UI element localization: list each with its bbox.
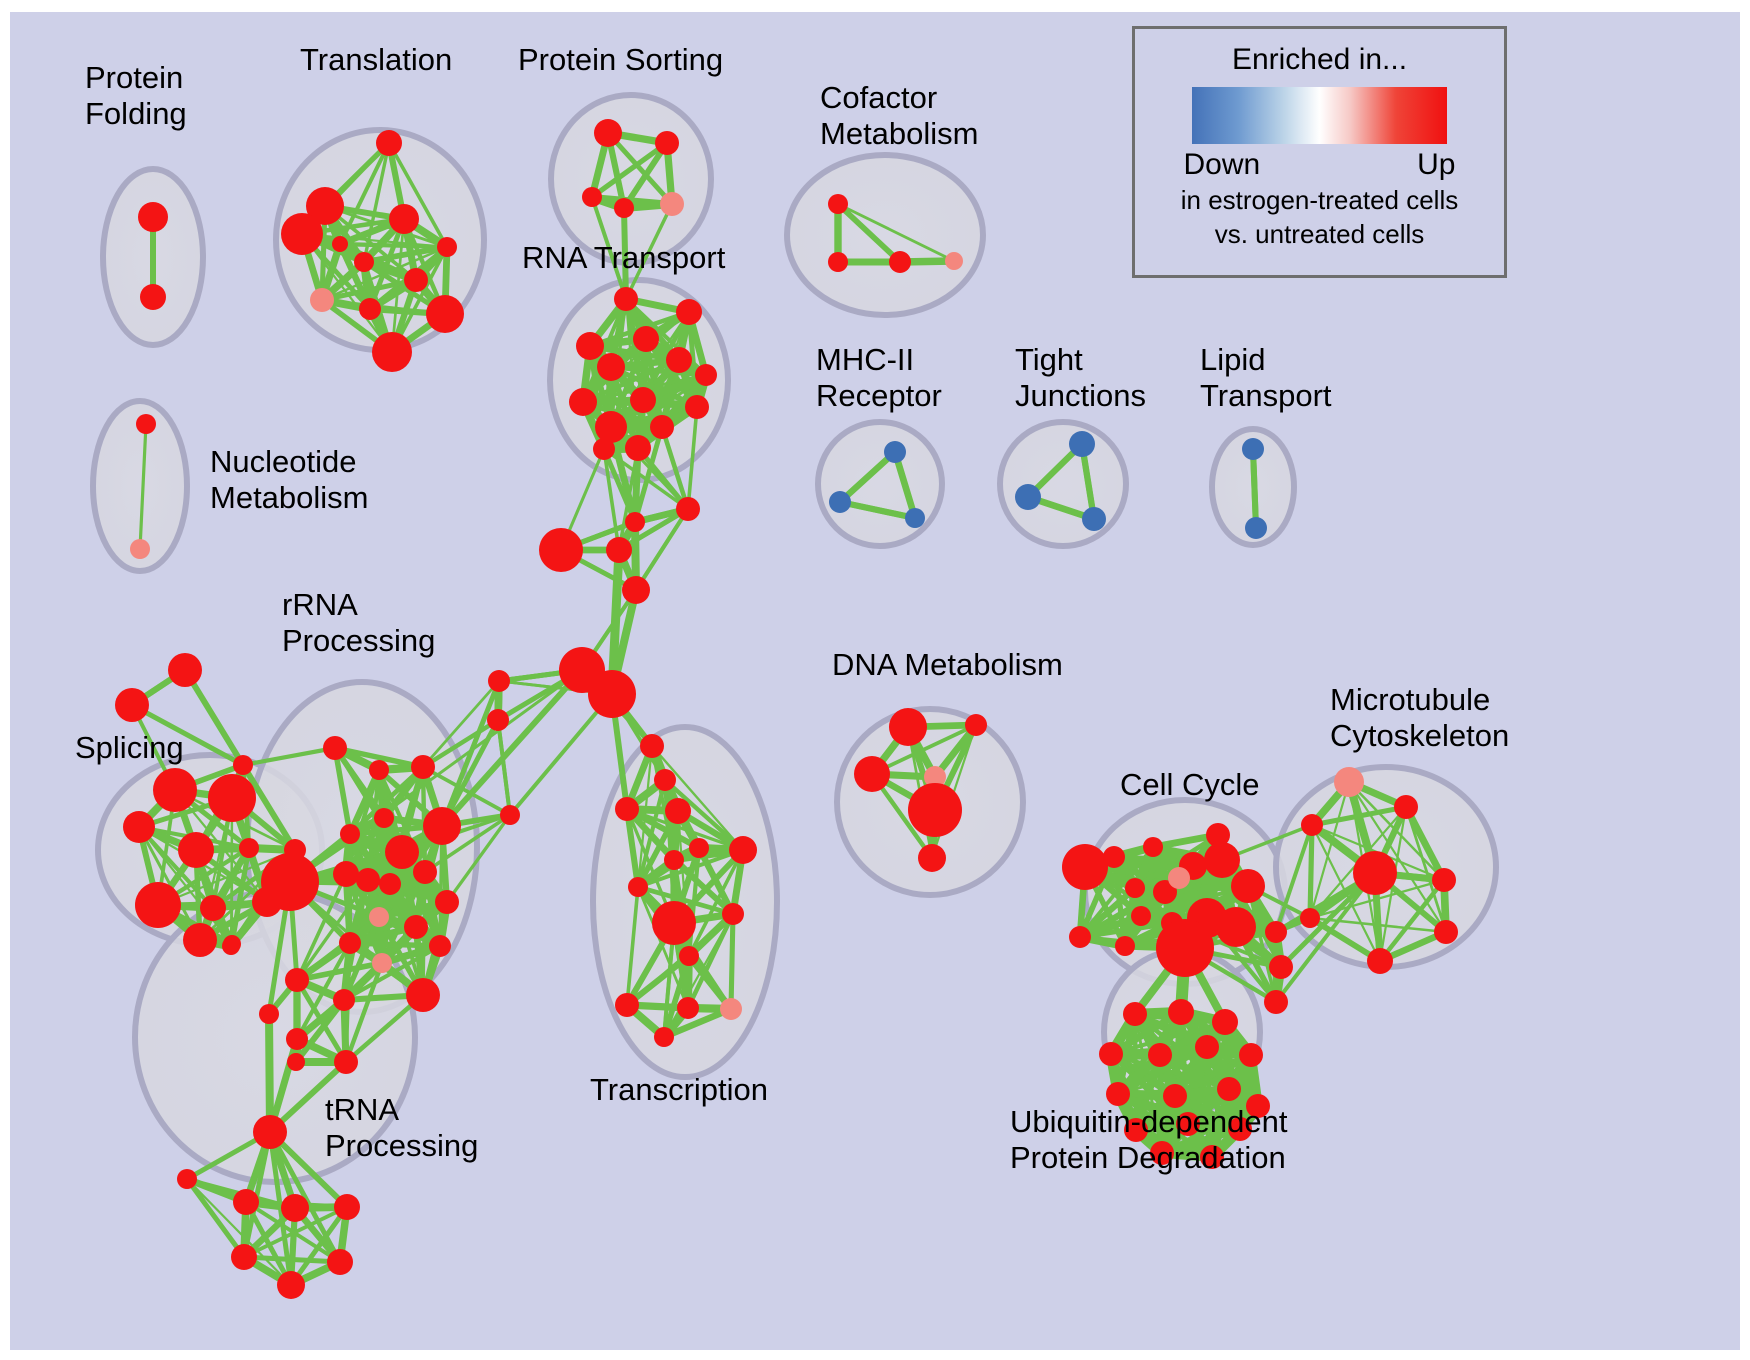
network-node[interactable]	[1106, 1082, 1130, 1106]
network-node[interactable]	[595, 411, 627, 443]
network-node[interactable]	[437, 237, 457, 257]
network-node[interactable]	[208, 774, 256, 822]
network-node[interactable]	[115, 688, 149, 722]
network-node[interactable]	[1156, 919, 1214, 977]
network-node[interactable]	[1168, 999, 1194, 1025]
legend-subtitle-line1: in estrogen-treated cells	[1181, 184, 1458, 216]
network-node[interactable]	[310, 288, 334, 312]
network-node[interactable]	[426, 295, 464, 333]
network-node[interactable]	[487, 709, 509, 731]
network-node[interactable]	[239, 838, 259, 858]
network-node[interactable]	[606, 537, 632, 563]
network-node[interactable]	[628, 877, 648, 897]
network-node[interactable]	[435, 890, 459, 914]
network-node[interactable]	[404, 915, 428, 939]
network-node[interactable]	[369, 907, 389, 927]
network-node[interactable]	[1242, 438, 1264, 460]
network-node[interactable]	[1231, 869, 1265, 903]
legend-subtitle-line2: vs. untreated cells	[1215, 218, 1425, 250]
network-node[interactable]	[1123, 1002, 1147, 1026]
network-edge	[498, 720, 510, 815]
network-node[interactable]	[1015, 484, 1041, 510]
network-node[interactable]	[168, 653, 202, 687]
network-node[interactable]	[138, 202, 168, 232]
network-node[interactable]	[385, 835, 419, 869]
network-node[interactable]	[633, 326, 659, 352]
network-node[interactable]	[569, 388, 597, 416]
network-node[interactable]	[625, 512, 645, 532]
network-node[interactable]	[625, 435, 651, 461]
network-node[interactable]	[140, 284, 166, 310]
network-node[interactable]	[1353, 851, 1397, 895]
network-node[interactable]	[136, 414, 156, 434]
network-node[interactable]	[640, 734, 664, 758]
network-node[interactable]	[1434, 920, 1458, 944]
network-node[interactable]	[372, 953, 392, 973]
cluster-label-protein-sorting: Protein Sorting	[518, 42, 723, 78]
network-node[interactable]	[281, 1194, 309, 1222]
network-node[interactable]	[369, 760, 389, 780]
network-node[interactable]	[356, 868, 380, 892]
network-node[interactable]	[918, 844, 946, 872]
network-node[interactable]	[1334, 767, 1364, 797]
network-node[interactable]	[233, 755, 253, 775]
network-node[interactable]	[1301, 814, 1323, 836]
cluster-label-translation: Translation	[300, 42, 452, 78]
network-node[interactable]	[1148, 1043, 1172, 1067]
network-node[interactable]	[576, 332, 604, 360]
network-node[interactable]	[1269, 955, 1293, 979]
network-node[interactable]	[614, 287, 638, 311]
network-node[interactable]	[965, 714, 987, 736]
network-node[interactable]	[884, 441, 906, 463]
cluster-label-transcription: Transcription	[590, 1072, 768, 1108]
network-node[interactable]	[354, 252, 374, 272]
network-node[interactable]	[372, 332, 412, 372]
cluster-label-mhc-ii-receptor: MHC-II Receptor	[816, 342, 942, 414]
cluster-ellipse-cofactor-metabolism[interactable]	[787, 155, 983, 315]
network-node[interactable]	[593, 438, 615, 460]
network-node[interactable]	[829, 491, 851, 513]
cluster-ellipse-tight-junctions[interactable]	[1000, 422, 1126, 546]
network-node[interactable]	[729, 836, 757, 864]
legend-color-gradient	[1192, 87, 1447, 144]
network-node[interactable]	[200, 895, 226, 921]
network-canvas: Protein FoldingTranslationNucleotide Met…	[10, 12, 1740, 1350]
network-node[interactable]	[1206, 823, 1230, 847]
network-node[interactable]	[183, 923, 217, 957]
network-edge	[340, 244, 447, 247]
network-node[interactable]	[676, 497, 700, 521]
network-node[interactable]	[389, 204, 419, 234]
cluster-label-splicing: Splicing	[75, 730, 184, 766]
cluster-ellipse-mhc-ii-receptor[interactable]	[818, 422, 942, 546]
network-node[interactable]	[854, 756, 890, 792]
network-node[interactable]	[500, 805, 520, 825]
network-node[interactable]	[630, 387, 656, 413]
network-node[interactable]	[178, 832, 214, 868]
network-node[interactable]	[327, 1249, 353, 1275]
network-edge	[731, 914, 733, 1009]
network-node[interactable]	[1168, 867, 1190, 889]
network-node[interactable]	[1099, 1042, 1123, 1066]
network-node[interactable]	[1069, 431, 1095, 457]
network-node[interactable]	[1300, 908, 1320, 928]
legend-down-label: Down	[1184, 148, 1261, 182]
network-node[interactable]	[1264, 990, 1288, 1014]
network-node[interactable]	[905, 508, 925, 528]
network-node[interactable]	[223, 935, 241, 953]
network-node[interactable]	[720, 998, 742, 1020]
network-node[interactable]	[1216, 907, 1256, 947]
legend-up-label: Up	[1417, 148, 1455, 182]
cluster-label-rrna-processing: rRNA Processing	[282, 587, 435, 659]
legend-title: Enriched in...	[1232, 43, 1407, 77]
network-node[interactable]	[286, 1028, 308, 1050]
network-node[interactable]	[1432, 868, 1456, 892]
cluster-label-protein-folding: Protein Folding	[85, 60, 187, 132]
network-node[interactable]	[889, 251, 911, 273]
network-node[interactable]	[582, 187, 602, 207]
cluster-label-tight-junctions: Tight Junctions	[1015, 342, 1146, 414]
network-node[interactable]	[233, 1189, 259, 1215]
network-node[interactable]	[1212, 1009, 1238, 1035]
network-node[interactable]	[1239, 1043, 1263, 1067]
network-node[interactable]	[664, 850, 684, 870]
network-node[interactable]	[685, 395, 709, 419]
legend-box: Enriched in... Down Up in estrogen-treat…	[1132, 26, 1507, 278]
cluster-label-rna-transport: RNA Transport	[522, 240, 725, 276]
network-node[interactable]	[231, 1244, 257, 1270]
network-edge	[442, 670, 582, 826]
network-node[interactable]	[1217, 1077, 1241, 1101]
network-node[interactable]	[695, 364, 717, 386]
network-node[interactable]	[281, 213, 323, 255]
cluster-ellipse-protein-sorting[interactable]	[551, 95, 711, 263]
network-node[interactable]	[614, 198, 634, 218]
network-node[interactable]	[588, 670, 636, 718]
network-node[interactable]	[539, 528, 583, 572]
network-node[interactable]	[660, 192, 684, 216]
cluster-label-nucleotide-metabolism: Nucleotide Metabolism	[210, 444, 369, 516]
network-node[interactable]	[411, 755, 435, 779]
network-node[interactable]	[374, 808, 394, 828]
cluster-label-ubiquitin-protein-degradation: Ubiquitin-dependent Protein Degradation	[1010, 1104, 1288, 1176]
network-node[interactable]	[689, 838, 709, 858]
cluster-label-cell-cycle: Cell Cycle	[1120, 767, 1260, 803]
network-node[interactable]	[130, 539, 150, 559]
network-node[interactable]	[333, 861, 359, 887]
network-node[interactable]	[404, 268, 428, 292]
network-node[interactable]	[379, 873, 401, 895]
network-node[interactable]	[666, 347, 692, 373]
network-node[interactable]	[1265, 921, 1287, 943]
network-node[interactable]	[333, 989, 355, 1011]
network-node[interactable]	[153, 768, 197, 812]
network-node[interactable]	[1125, 878, 1145, 898]
network-node[interactable]	[677, 997, 699, 1019]
network-node[interactable]	[615, 797, 639, 821]
network-node[interactable]	[1204, 842, 1240, 878]
network-node[interactable]	[1143, 837, 1163, 857]
network-node[interactable]	[654, 1027, 674, 1047]
network-node[interactable]	[332, 236, 348, 252]
network-node[interactable]	[429, 935, 451, 957]
network-node[interactable]	[1131, 906, 1151, 926]
network-node[interactable]	[652, 901, 696, 945]
network-node[interactable]	[1062, 844, 1108, 890]
figure-root: Protein FoldingTranslationNucleotide Met…	[0, 0, 1750, 1360]
network-node[interactable]	[253, 1115, 287, 1149]
network-node[interactable]	[359, 298, 381, 320]
network-node[interactable]	[488, 670, 510, 692]
network-node[interactable]	[597, 353, 625, 381]
network-node[interactable]	[406, 978, 440, 1012]
network-node[interactable]	[261, 853, 319, 911]
network-node[interactable]	[722, 903, 744, 925]
network-edge	[1310, 825, 1312, 918]
network-node[interactable]	[339, 932, 361, 954]
network-node[interactable]	[334, 1194, 360, 1220]
cluster-label-microtubule-cytoskeleton: Microtubule Cytoskeleton	[1330, 682, 1509, 754]
network-node[interactable]	[828, 252, 848, 272]
network-edge	[1253, 449, 1256, 528]
network-node[interactable]	[594, 119, 622, 147]
network-node[interactable]	[423, 807, 461, 845]
network-node[interactable]	[1245, 517, 1267, 539]
network-node[interactable]	[287, 1053, 305, 1071]
network-node[interactable]	[655, 131, 679, 155]
network-node[interactable]	[622, 576, 650, 604]
network-node[interactable]	[277, 1271, 305, 1299]
network-node[interactable]	[334, 1050, 358, 1074]
network-node[interactable]	[654, 769, 676, 791]
network-node[interactable]	[1367, 948, 1393, 974]
network-node[interactable]	[908, 783, 962, 837]
network-node[interactable]	[1115, 936, 1135, 956]
network-node[interactable]	[259, 1004, 279, 1024]
network-node[interactable]	[340, 824, 360, 844]
network-node[interactable]	[323, 736, 347, 760]
network-node[interactable]	[1394, 795, 1418, 819]
network-node[interactable]	[177, 1169, 197, 1189]
cluster-label-trna-processing: tRNA Processing	[325, 1092, 478, 1164]
network-node[interactable]	[828, 194, 848, 214]
cluster-label-dna-metabolism: DNA Metabolism	[832, 647, 1063, 683]
network-node[interactable]	[376, 130, 402, 156]
network-node[interactable]	[679, 946, 699, 966]
network-node[interactable]	[1195, 1035, 1219, 1059]
cluster-label-lipid-transport: Lipid Transport	[1200, 342, 1332, 414]
network-node[interactable]	[665, 798, 691, 824]
network-node[interactable]	[615, 993, 639, 1017]
network-node[interactable]	[135, 882, 181, 928]
network-node[interactable]	[123, 811, 155, 843]
network-node[interactable]	[1069, 926, 1091, 948]
network-node[interactable]	[945, 252, 963, 270]
network-node[interactable]	[650, 415, 674, 439]
network-node[interactable]	[1082, 507, 1106, 531]
cluster-label-cofactor-metabolism: Cofactor Metabolism	[820, 80, 979, 152]
network-edge	[269, 1014, 270, 1132]
network-node[interactable]	[413, 860, 437, 884]
network-edge	[350, 943, 440, 946]
network-node[interactable]	[889, 708, 927, 746]
network-node[interactable]	[285, 968, 309, 992]
network-node[interactable]	[676, 299, 702, 325]
